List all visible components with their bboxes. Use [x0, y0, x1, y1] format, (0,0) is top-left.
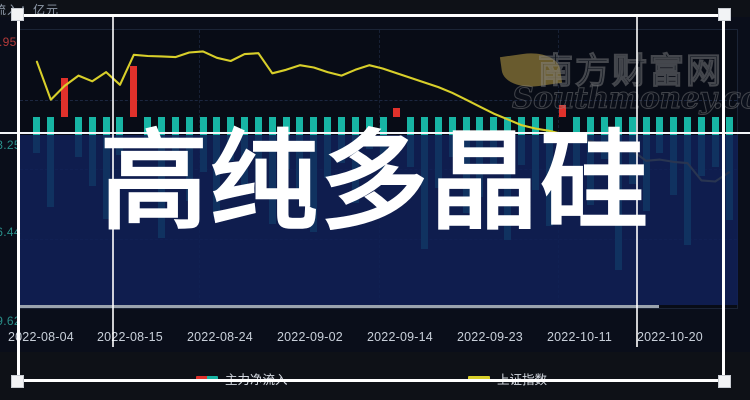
bar: [130, 66, 137, 117]
x-axis-tick-label: 2022-10-11: [547, 330, 612, 344]
resize-handle-bottom-left[interactable]: [11, 375, 24, 388]
resize-handle-bottom-right[interactable]: [718, 375, 731, 388]
x-axis-tick-label: 2022-08-24: [187, 330, 253, 344]
legend-label: 主力净流入: [225, 369, 288, 388]
x-axis-tick-label: 2022-09-14: [367, 330, 433, 344]
chart-legend: 主力净流入上证指数: [0, 369, 750, 395]
x-axis-tick-label: 2022-08-15: [97, 330, 163, 344]
bar: [393, 108, 400, 117]
x-axis-tick-label: 2022-10-20: [637, 330, 703, 344]
overlay-title: 高纯多晶硅: [0, 128, 750, 238]
y-axis-unit-label: 流入：亿元: [0, 1, 59, 18]
legend-sse-index[interactable]: 上证指数: [468, 369, 547, 388]
legend-swatch-icon: [196, 376, 218, 382]
bar: [61, 78, 68, 117]
bar: [559, 105, 566, 117]
overlay-panel-edge: [19, 305, 659, 308]
x-axis-tick-label: 2022-09-23: [457, 330, 523, 344]
legend-swatch-icon: [468, 376, 490, 382]
resize-handle-top-right[interactable]: [718, 8, 731, 21]
x-axis-tick-label: 2022-09-02: [277, 330, 343, 344]
legend-main-net-inflow[interactable]: 主力净流入: [196, 369, 288, 388]
x-axis-tick-label: 2022-08-04: [8, 330, 74, 344]
screenshot-root: 流入：亿元 3.950-3.25-6.44-9.62 2022-08-04202…: [0, 0, 750, 400]
legend-label: 上证指数: [497, 369, 547, 388]
resize-handle-top-left[interactable]: [11, 8, 24, 21]
